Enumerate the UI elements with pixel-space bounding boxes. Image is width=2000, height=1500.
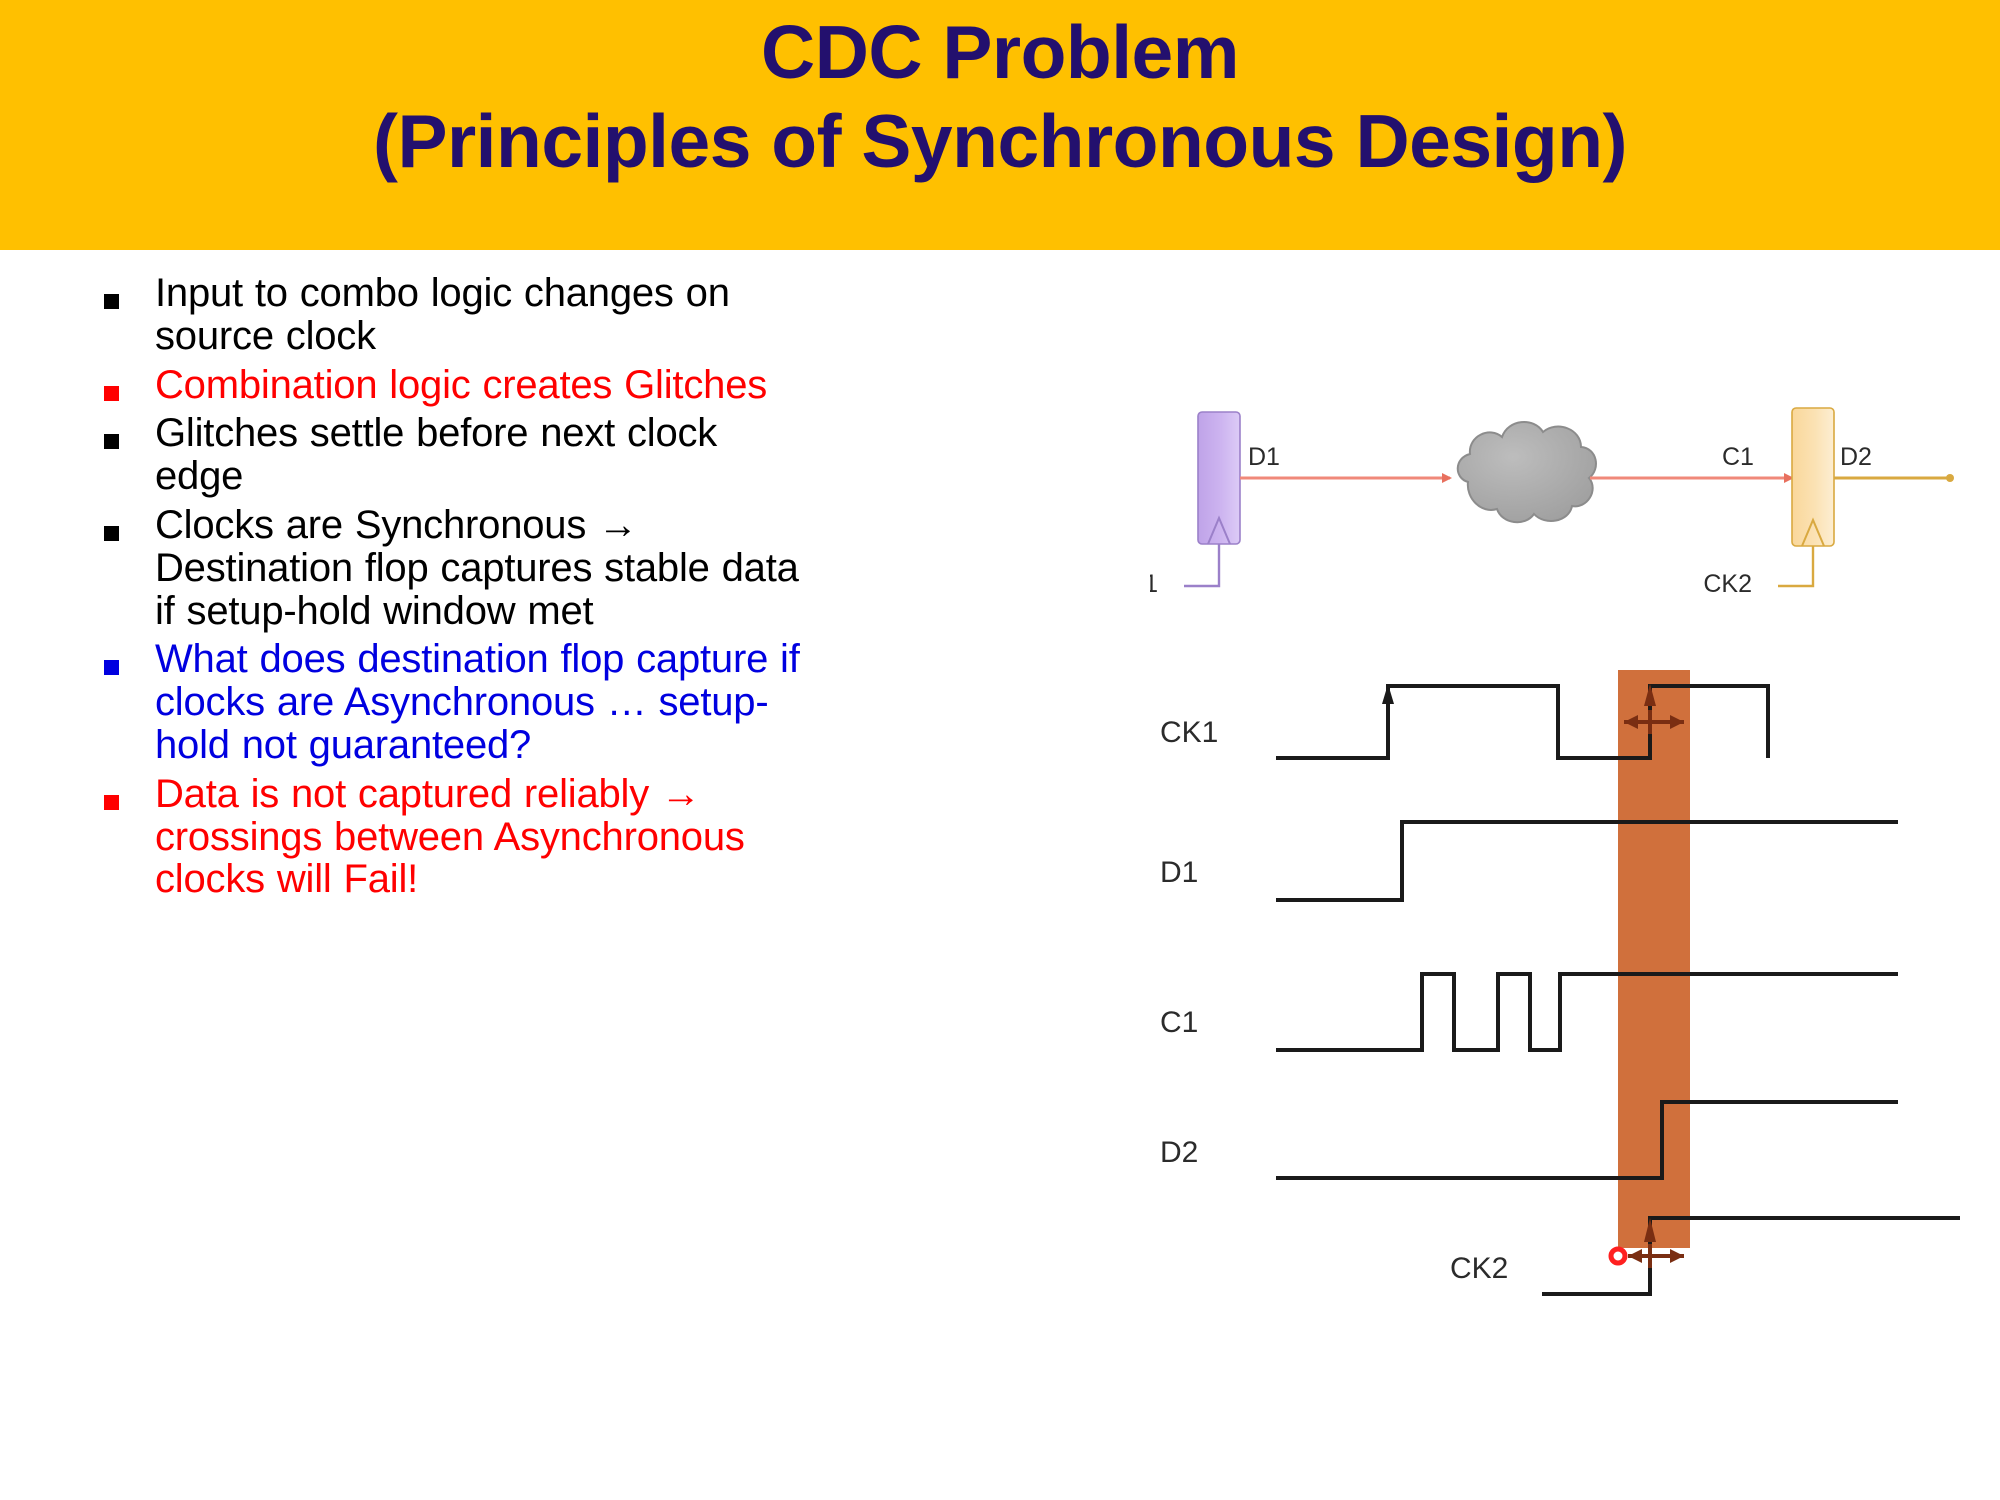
list-item-label: Combination logic creates Glitches — [155, 364, 800, 407]
waveform-label-d2: D2 — [1160, 1136, 1198, 1169]
waveform-trace-ck2 — [1542, 1218, 1960, 1294]
waveform-trace-d2 — [1276, 1102, 1898, 1178]
list-item: Combination logic creates Glitches — [100, 364, 800, 407]
ck1-label: CK1 — [1150, 570, 1158, 598]
d2-net-endpoint — [1946, 474, 1954, 482]
c1-label: C1 — [1722, 443, 1754, 471]
bullet-square-icon — [100, 638, 155, 675]
list-item: Data is not captured reliably → crossing… — [100, 773, 800, 901]
bullet-square-icon — [100, 364, 155, 401]
dest-flop-box — [1792, 408, 1834, 546]
list-item-label: What does destination flop capture if cl… — [155, 638, 800, 766]
list-item-label: Data is not captured reliably → crossing… — [155, 773, 800, 901]
ck1-wire — [1184, 544, 1219, 586]
waveform-trace-c1 — [1276, 974, 1898, 1050]
combo-logic-cloud-icon — [1458, 422, 1596, 522]
bullet-square-icon — [100, 773, 155, 810]
waveform-trace-d1 — [1276, 822, 1898, 900]
d2-label: D2 — [1840, 443, 1872, 471]
waveform-label-ck2: CK2 — [1450, 1252, 1508, 1285]
list-item-label: Input to combo logic changes on source c… — [155, 272, 800, 358]
d1-net-arrow-icon — [1442, 473, 1452, 483]
bullet-square-icon — [100, 412, 155, 449]
list-item: Glitches settle before next clock edge — [100, 412, 800, 498]
circuit-schematic: CK1 D1 C1 CK2 D2 — [1150, 390, 1980, 650]
list-item: Clocks are Synchronous → Destination flo… — [100, 504, 800, 632]
waveform-trace-ck1 — [1276, 686, 1768, 758]
source-flop-box — [1198, 412, 1240, 544]
bullet-square-icon — [100, 272, 155, 309]
title-banner: CDC Problem (Principles of Synchronous D… — [0, 0, 2000, 250]
list-item: Input to combo logic changes on source c… — [100, 272, 800, 358]
bullet-square-icon — [100, 504, 155, 541]
d1-label: D1 — [1248, 443, 1280, 471]
waveform-label-d1: D1 — [1160, 856, 1198, 889]
ck2-label: CK2 — [1703, 570, 1752, 598]
metastability-marker-icon — [1611, 1249, 1625, 1263]
figure-panel: CK1 D1 C1 CK2 D2 CK1 — [1150, 390, 1980, 1310]
ck2-wire — [1778, 546, 1813, 586]
timing-waveform: CK1 D1 C1 D2 CK2 — [1150, 650, 1980, 1310]
list-item-label: Glitches settle before next clock edge — [155, 412, 800, 498]
waveform-label-ck1: CK1 — [1160, 716, 1218, 749]
list-item-label: Clocks are Synchronous → Destination flo… — [155, 504, 800, 632]
waveform-label-c1: C1 — [1160, 1006, 1198, 1039]
list-item: What does destination flop capture if cl… — [100, 638, 800, 766]
page-title: CDC Problem (Principles of Synchronous D… — [0, 8, 2000, 185]
bullet-list: Input to combo logic changes on source c… — [100, 272, 800, 907]
